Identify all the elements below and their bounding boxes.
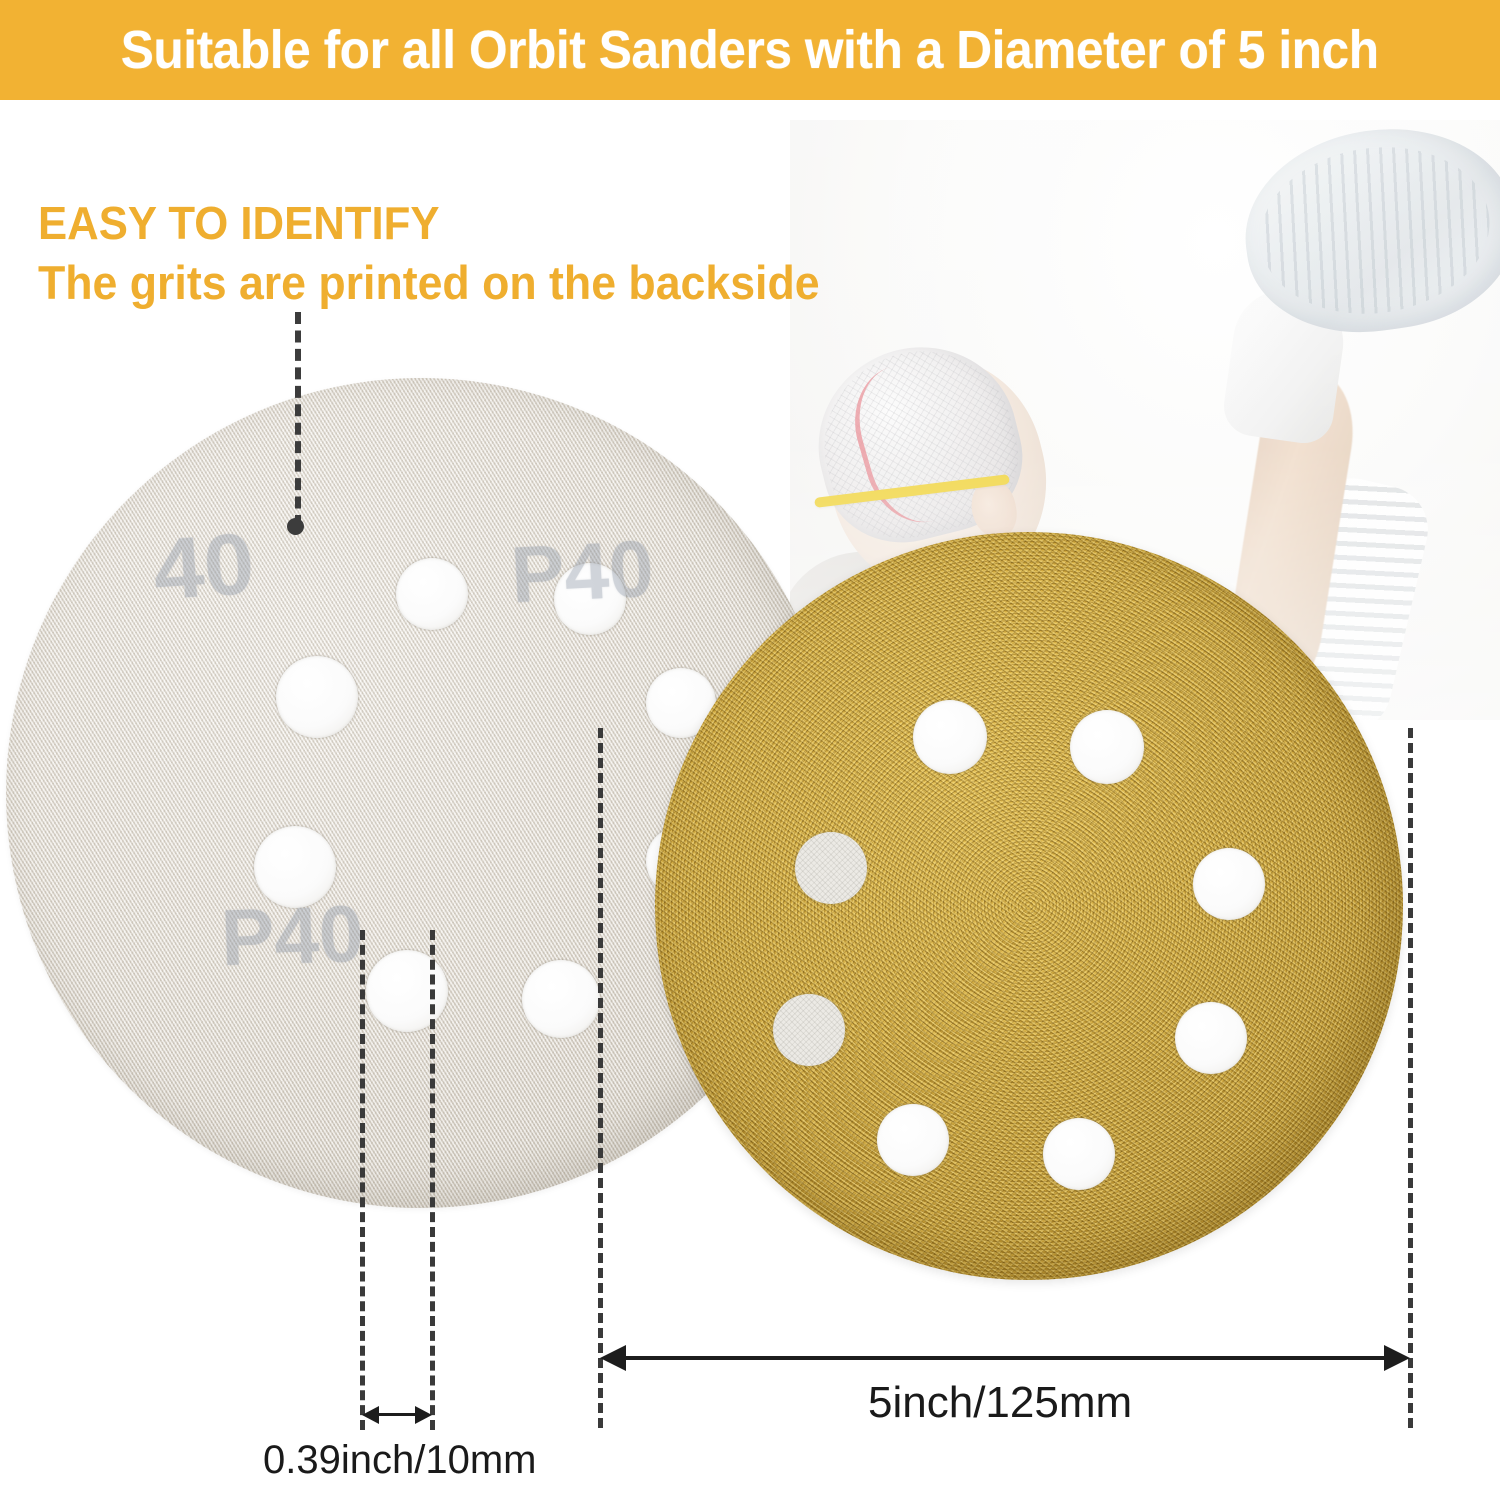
disc-hole (1193, 848, 1265, 920)
header-banner: Suitable for all Orbit Sanders with a Di… (0, 0, 1500, 100)
disc-hole (366, 950, 448, 1032)
dim-guide-hole-left (360, 930, 365, 1430)
disc-hole (913, 700, 987, 774)
infographic-canvas: Suitable for all Orbit Sanders with a Di… (0, 0, 1500, 1500)
callout-subheading: The grits are printed on the backside (38, 254, 820, 312)
dim-label-hole-diameter: 0.39inch/10mm (263, 1438, 536, 1483)
disc-hole (396, 558, 468, 630)
dim-label-disc-diameter: 5inch/125mm (868, 1378, 1132, 1428)
dim-arrowhead-right (1384, 1345, 1410, 1371)
disc-hole (1070, 710, 1144, 784)
dim-guide-hole-right (430, 930, 435, 1430)
dim-arrowhead-left-small (362, 1406, 379, 1424)
dim-line-hole-diameter (372, 1413, 420, 1416)
disc-hole (522, 960, 600, 1038)
grit-print-40: 40 (150, 515, 257, 621)
dim-guide-disc-right (1408, 728, 1413, 1428)
disc-hole (877, 1104, 949, 1176)
dim-arrowhead-left (600, 1345, 626, 1371)
callout-heading: EASY TO IDENTIFY (38, 196, 820, 250)
sanding-disc-grit-face (655, 532, 1403, 1280)
dim-arrowhead-right-small (415, 1406, 432, 1424)
callout-leader-dot (287, 518, 304, 535)
dim-guide-disc-left (598, 728, 603, 1428)
dim-line-disc-diameter (618, 1356, 1390, 1360)
callout-leader-line (295, 312, 301, 527)
grit-print-p40-top: P40 (509, 522, 656, 621)
banner-title: Suitable for all Orbit Sanders with a Di… (121, 19, 1379, 81)
disc-hole (1175, 1002, 1247, 1074)
disc-hole (276, 656, 358, 738)
disc-hole (795, 832, 867, 904)
callout-block: EASY TO IDENTIFY The grits are printed o… (38, 196, 861, 312)
disc-hole (1043, 1118, 1115, 1190)
disc-hole (773, 994, 845, 1066)
grit-print-p40-bottom: P40 (219, 888, 364, 985)
